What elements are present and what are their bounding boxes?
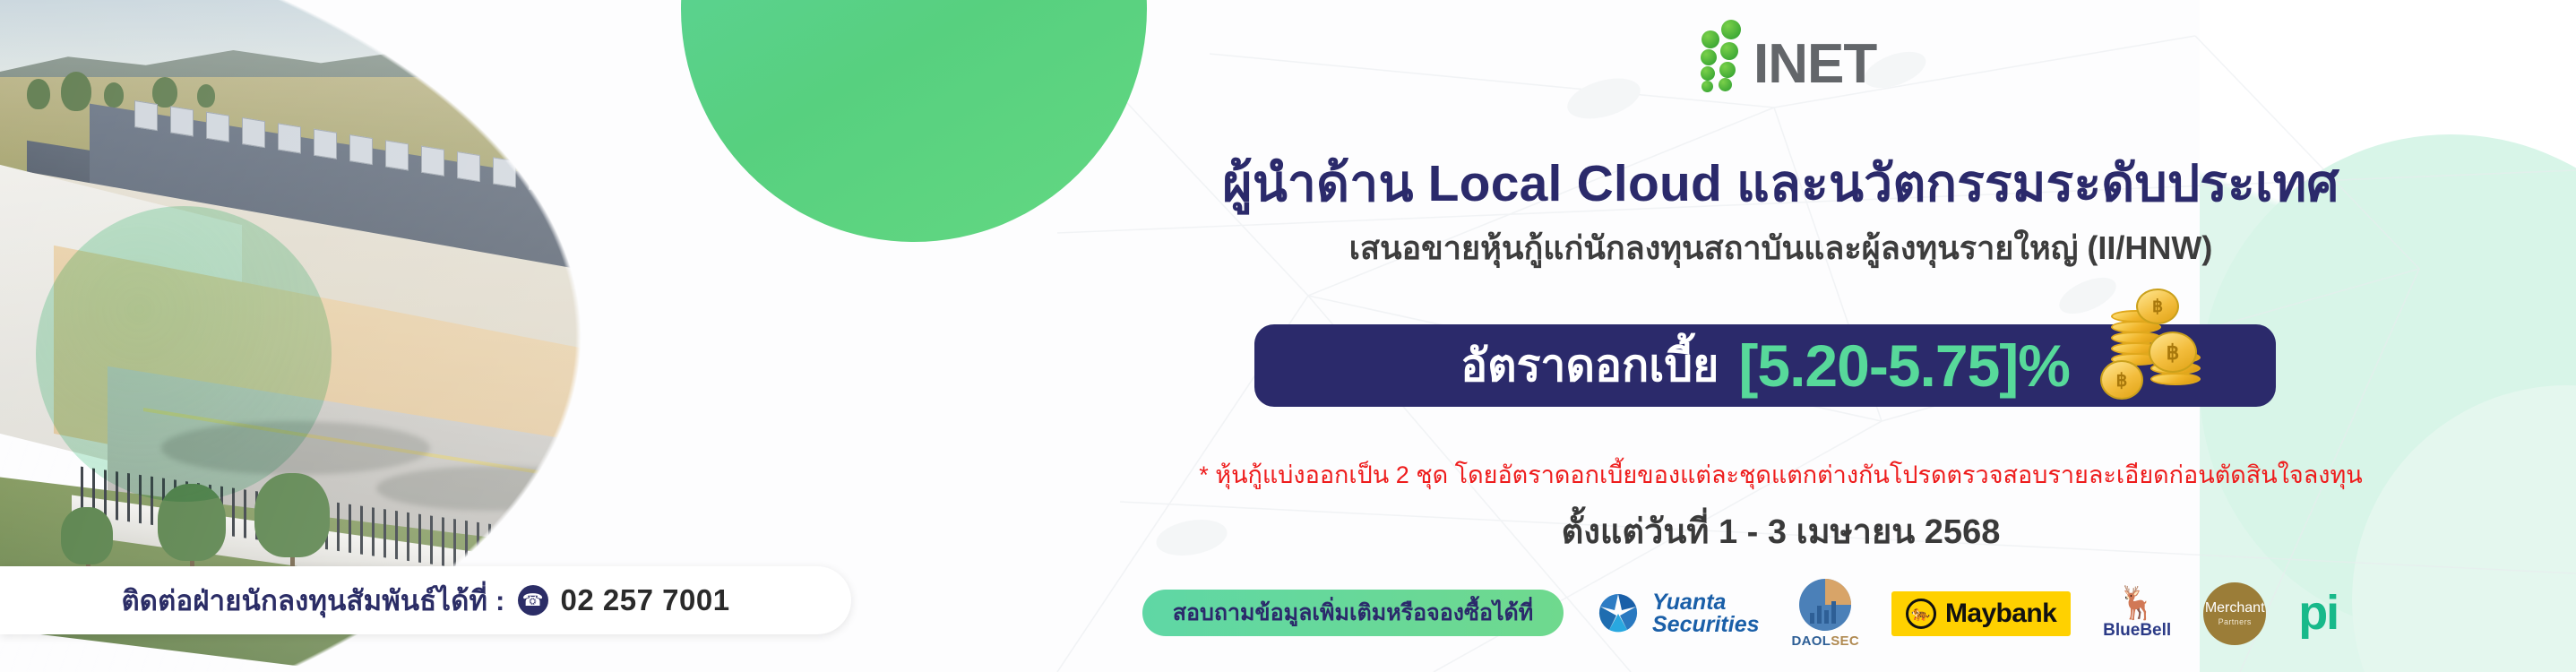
page-title: ผู้นำด้าน Local Cloud และนวัตกรรมระดับปร… bbox=[986, 143, 2576, 224]
daol-suffix: SEC bbox=[1831, 633, 1859, 649]
investor-relations-contact[interactable]: ติดต่อฝ่ายนักลงทุนสัมพันธ์ได้ที่ : ☎ 02 … bbox=[0, 566, 851, 634]
inet-logo: INET bbox=[1698, 20, 1876, 90]
contact-label: ติดต่อฝ่ายนักลงทุนสัมพันธ์ได้ที่ : bbox=[121, 578, 504, 623]
yuanta-line1: Yuanta bbox=[1652, 591, 1760, 614]
gold-coins-icon: ฿ ฿ ฿ bbox=[2095, 305, 2211, 419]
yuanta-line2: Securities bbox=[1652, 614, 1760, 636]
maybank-name: Maybank bbox=[1945, 599, 2056, 629]
partner-logo-merchant-partners[interactable]: Merchant Partners bbox=[2203, 582, 2266, 645]
yuanta-mark-icon bbox=[1595, 590, 1641, 637]
promo-banner: ติดต่อฝ่ายนักลงทุนสัมพันธ์ได้ที่ : ☎ 02 … bbox=[0, 0, 2576, 672]
phone-icon: ☎ bbox=[518, 585, 548, 616]
daol-mark-icon bbox=[1799, 579, 1851, 631]
partner-logos: Yuanta Securities DAOLSEC 🐅 Maybank 🦌 Bl… bbox=[1595, 579, 2338, 649]
green-circle-overlay bbox=[36, 206, 332, 502]
disclaimer-text: * หุ้นกู้แบ่งออกเป็น 2 ชุด โดยอัตราดอกเบ… bbox=[986, 455, 2576, 494]
contact-phone-number: 02 257 7001 bbox=[561, 583, 730, 617]
partner-logo-pi[interactable]: pi bbox=[2298, 594, 2338, 633]
interest-rate-value: [5.20-5.75]% bbox=[1738, 332, 2070, 400]
bluebell-name: BlueBell bbox=[2103, 621, 2171, 641]
inquiry-cta-button[interactable]: สอบถามข้อมูลเพิ่มเติมหรือจองซื้อได้ที่ bbox=[1142, 590, 1564, 636]
inet-logo-text: INET bbox=[1753, 39, 1876, 90]
daol-name: DAOL bbox=[1792, 633, 1831, 649]
interest-rate-label: อัตราดอกเบี้ย bbox=[1460, 331, 1719, 401]
partner-logo-yuanta[interactable]: Yuanta Securities bbox=[1595, 590, 1760, 637]
partner-logo-daol[interactable]: DAOLSEC bbox=[1792, 579, 1859, 649]
deer-icon: 🦌 bbox=[2117, 587, 2158, 619]
tiger-icon: 🐅 bbox=[1906, 599, 1936, 629]
interest-rate-box: อัตราดอกเบี้ย [5.20-5.75]% ฿ ฿ ฿ bbox=[1254, 324, 2276, 407]
offering-dates: ตั้งแต่วันที่ 1 - 3 เมษายน 2568 bbox=[986, 504, 2576, 558]
pi-name: pi bbox=[2298, 594, 2338, 633]
merchant-line2: Partners bbox=[2218, 617, 2252, 626]
page-subtitle: เสนอขายหุ้นกู้แก่นักลงทุนสถาบันและผู้ลงท… bbox=[986, 222, 2576, 273]
merchant-line1: Merchant bbox=[2205, 601, 2265, 616]
partner-logo-maybank[interactable]: 🐅 Maybank bbox=[1891, 591, 2071, 636]
inet-dots-logo-icon bbox=[1698, 20, 1748, 90]
partner-logo-bluebell[interactable]: 🦌 BlueBell bbox=[2103, 587, 2171, 641]
content-panel: INET ผู้นำด้าน Local Cloud และนวัตกรรมระ… bbox=[986, 0, 2576, 672]
